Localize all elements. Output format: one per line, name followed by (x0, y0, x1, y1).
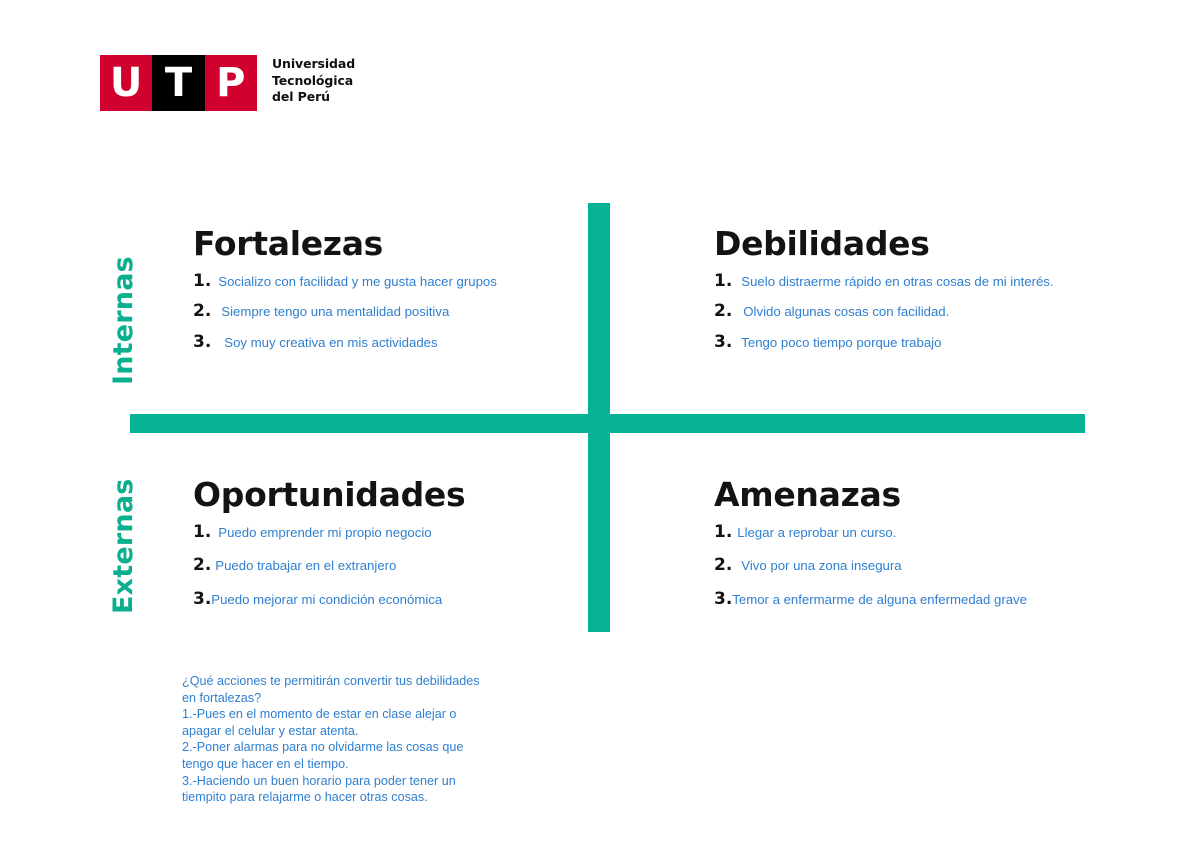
quadrant-amenazas: Amenazas 1. Llegar a reprobar un curso. … (714, 477, 1114, 624)
list-item: 1. Llegar a reprobar un curso. (714, 523, 1114, 542)
list-item: 1. Puedo emprender mi propio negocio (193, 523, 583, 542)
reflection-paragraph: ¿Qué acciones te permitirán convertir tu… (182, 673, 552, 806)
list-item-text: Socializo con facilidad y me gusta hacer… (218, 274, 583, 291)
list-item-number: 1. (193, 272, 211, 291)
list-item: 3. Tengo poco tiempo porque trabajo (714, 333, 1114, 352)
list-item-number: 3. (714, 333, 732, 352)
quadrant-title-amenazas: Amenazas (714, 477, 1114, 513)
list-item: 2. Vivo por una zona insegura (714, 556, 1114, 575)
list-item-number: 2. (714, 302, 732, 321)
list-item-number: 1. (193, 523, 211, 542)
list-item: 3. Temor a enfermarme de alguna enfermed… (714, 590, 1114, 609)
logo-letter-t: T (152, 55, 204, 111)
list-item: 3. Soy muy creativa en mis actividades (193, 333, 583, 352)
list-item: 2. Puedo trabajar en el extranjero (193, 556, 583, 575)
list-item: 2. Olvido algunas cosas con facilidad. (714, 302, 1114, 321)
list-item-text: Puedo emprender mi propio negocio (218, 525, 583, 542)
quadrant-list-debilidades: 1. Suelo distraerme rápido en otras cosa… (714, 272, 1114, 352)
logo-letter-u: U (100, 55, 152, 111)
list-item-text: Vivo por una zona insegura (741, 558, 1114, 575)
reflection-line: 2.-Poner alarmas para no olvidarme las c… (182, 739, 552, 756)
list-item-number: 2. (193, 556, 211, 575)
university-name-line-2: Tecnológica (272, 73, 355, 90)
quadrant-list-oportunidades: 1. Puedo emprender mi propio negocio 2. … (193, 523, 583, 609)
reflection-line: tiempito para relajarme o hacer otras co… (182, 789, 552, 806)
list-item-number: 1. (714, 523, 732, 542)
quadrant-list-amenazas: 1. Llegar a reprobar un curso. 2. Vivo p… (714, 523, 1114, 609)
university-name-line-3: del Perú (272, 89, 355, 106)
list-item-number: 3. (193, 333, 211, 352)
list-item-text: Puedo mejorar mi condición económica (211, 592, 583, 609)
list-item: 2. Siempre tengo una mentalidad positiva (193, 302, 583, 321)
list-item-text: Puedo trabajar en el extranjero (215, 558, 583, 575)
quadrant-title-oportunidades: Oportunidades (193, 477, 583, 513)
axis-label-internas: Internas (108, 256, 139, 385)
list-item-number: 2. (193, 302, 211, 321)
utp-logo: U T P (100, 55, 257, 111)
list-item-text: Olvido algunas cosas con facilidad. (743, 304, 1114, 321)
list-item-number: 1. (714, 272, 732, 291)
list-item-text: Tengo poco tiempo porque trabajo (741, 335, 1114, 352)
reflection-line: 3.-Haciendo un buen horario para poder t… (182, 773, 552, 790)
list-item-text: Suelo distraerme rápido en otras cosas d… (741, 274, 1114, 291)
list-item-text: Temor a enfermarme de alguna enfermedad … (732, 592, 1114, 609)
list-item-text: Siempre tengo una mentalidad positiva (221, 304, 583, 321)
quadrant-title-debilidades: Debilidades (714, 226, 1114, 262)
reflection-line: ¿Qué acciones te permitirán convertir tu… (182, 673, 552, 690)
list-item-number: 2. (714, 556, 732, 575)
axis-label-externas: Externas (108, 478, 139, 614)
list-item: 1. Suelo distraerme rápido en otras cosa… (714, 272, 1114, 291)
reflection-line: tengo que hacer en el tiempo. (182, 756, 552, 773)
list-item-text: Llegar a reprobar un curso. (737, 525, 1114, 542)
reflection-line: en fortalezas? (182, 690, 552, 707)
university-name-line-1: Universidad (272, 56, 355, 73)
list-item-number: 3. (714, 590, 732, 609)
list-item-text: Soy muy creativa en mis actividades (224, 335, 583, 352)
quadrant-title-fortalezas: Fortalezas (193, 226, 583, 262)
list-item: 3. Puedo mejorar mi condición económica (193, 590, 583, 609)
list-item: 1. Socializo con facilidad y me gusta ha… (193, 272, 583, 291)
reflection-line: 1.-Pues en el momento de estar en clase … (182, 706, 552, 723)
quadrant-oportunidades: Oportunidades 1. Puedo emprender mi prop… (193, 477, 583, 624)
reflection-line: apagar el celular y estar atenta. (182, 723, 552, 740)
list-item-number: 3. (193, 590, 211, 609)
swot-horizontal-divider (130, 414, 1085, 433)
university-name: Universidad Tecnológica del Perú (272, 56, 355, 106)
quadrant-list-fortalezas: 1. Socializo con facilidad y me gusta ha… (193, 272, 583, 352)
logo-letter-p: P (205, 55, 257, 111)
quadrant-fortalezas: Fortalezas 1. Socializo con facilidad y … (193, 226, 583, 364)
quadrant-debilidades: Debilidades 1. Suelo distraerme rápido e… (714, 226, 1114, 364)
